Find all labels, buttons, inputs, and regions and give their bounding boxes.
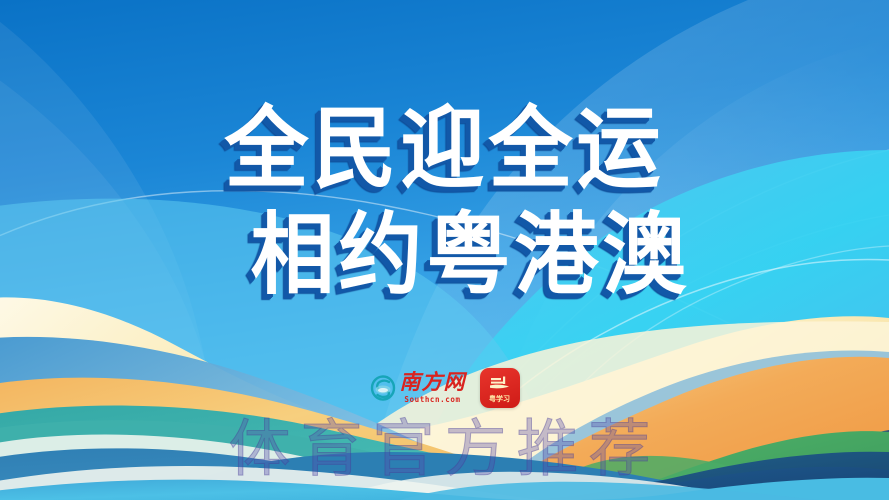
southcn-english-name: Southcn.com [404, 396, 460, 404]
open-book-icon [488, 375, 512, 395]
yuexuexi-label: 粤学习 [489, 396, 510, 403]
southcn-logo[interactable]: 南方网 Southcn.com [370, 372, 466, 404]
poster-background [0, 0, 889, 500]
logo-row: 南方网 Southcn.com 粤学习 [0, 368, 889, 408]
yuexuexi-app-icon[interactable]: 粤学习 [480, 368, 520, 408]
southcn-swirl-icon [370, 375, 396, 401]
southcn-logo-text: 南方网 Southcn.com [400, 372, 466, 404]
poster-canvas: 全民迎全运 相约粤港澳 南方网 Southcn.com [0, 0, 889, 500]
southcn-chinese-name: 南方网 [400, 372, 466, 393]
